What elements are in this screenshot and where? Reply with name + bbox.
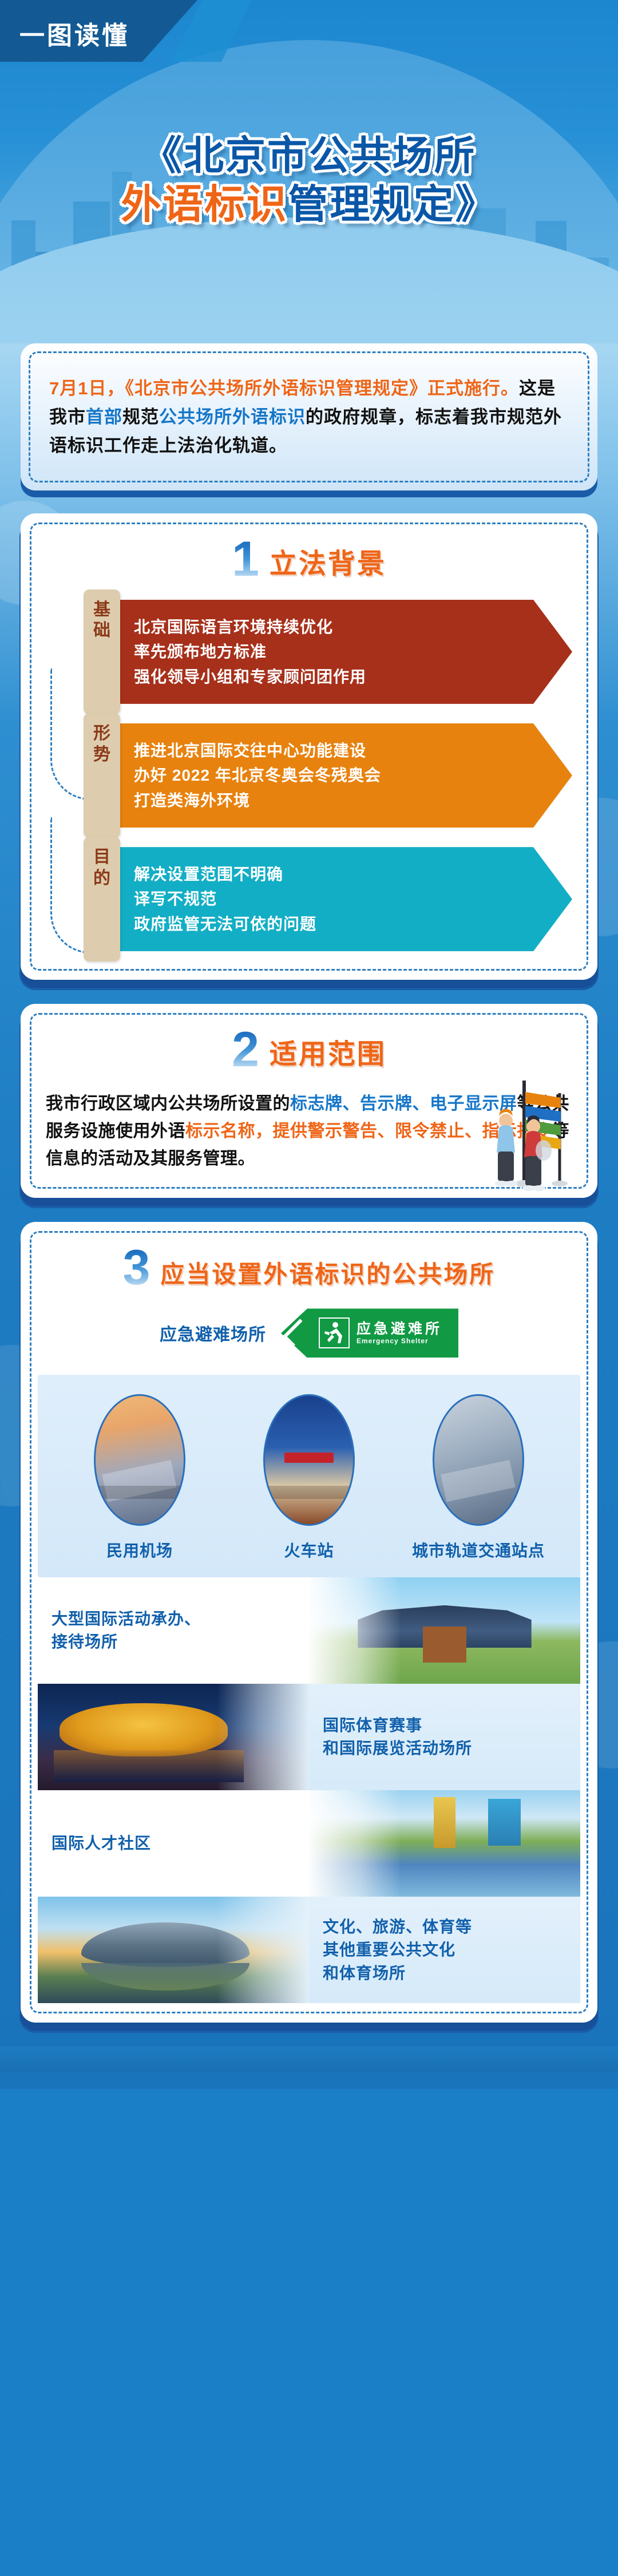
emergency-shelter-row: 应急避难场所 应急避难所 Emergency Shelter bbox=[38, 1308, 580, 1358]
shelter-sign-cn: 应急避难所 bbox=[356, 1321, 442, 1338]
background-item-purpose: 目 的 解决设置范围不明确 译写不规范 政府监管无法可依的问题 bbox=[50, 847, 572, 951]
birds-nest-stadium-photo bbox=[38, 1684, 309, 1790]
basis-line-2: 率先颁布地方标准 bbox=[134, 639, 504, 664]
intro-seg-3: 首部 bbox=[86, 407, 122, 427]
section-1-name: 立法背景 bbox=[270, 551, 386, 580]
metro-station-photo bbox=[433, 1394, 524, 1526]
background-item-basis: 基 础 北京国际语言环境持续优化 率先颁布地方标准 强化领导小组和专家顾问团作用 bbox=[50, 600, 572, 704]
tag-label: 一图读懂 bbox=[19, 15, 129, 52]
arrow-banner-situation: 推进北京国际交往中心功能建设 办好 2022 年北京冬奥会冬残奥会 打造类海外环… bbox=[117, 723, 572, 828]
one-picture-tag-banner: 一图读懂 bbox=[0, 0, 197, 62]
purpose-line-1: 解决设置范围不明确 bbox=[134, 862, 504, 887]
venue-row-culture: 文化、旅游、体育等 其他重要公共文化 和体育场所 bbox=[38, 1897, 580, 2003]
international-talent-community-photo bbox=[309, 1790, 580, 1897]
badge-purpose-char-1: 目 bbox=[86, 847, 118, 868]
thumb-metro-label: 城市轨道交通站点 bbox=[402, 1538, 554, 1561]
venue-culture-line-2: 其他重要公共文化 bbox=[323, 1938, 472, 1962]
thumb-airport: 民用机场 bbox=[64, 1394, 216, 1561]
badge-situation-char-2: 势 bbox=[86, 745, 118, 766]
badge-situation: 形 势 bbox=[84, 713, 120, 838]
badge-basis: 基 础 bbox=[84, 589, 120, 714]
shelter-sign-en: Emergency Shelter bbox=[356, 1337, 442, 1345]
section-3-card: 3 应当设置外语标识的公共场所 应急避难场所 bbox=[21, 1222, 597, 2023]
arrow-banner-basis: 北京国际语言环境持续优化 率先颁布地方标准 强化领导小组和专家顾问团作用 bbox=[117, 600, 572, 704]
venue-convention-line-1: 大型国际活动承办、 bbox=[51, 1608, 201, 1631]
thumb-railway-label: 火车站 bbox=[233, 1538, 385, 1561]
venue-row-convention: 大型国际活动承办、 接待场所 bbox=[38, 1577, 580, 1684]
intro-paragraph: 7月1日，《北京市公共场所外语标识管理规定》正式施行。这是我市首部规范公共场所外… bbox=[21, 343, 597, 490]
section-2-title: 2 适用范围 bbox=[46, 1029, 572, 1071]
intro-seg-4: 规范 bbox=[122, 407, 159, 427]
venue-talent-text: 国际人才社区 bbox=[38, 1790, 309, 1897]
scope-seg-1: 我市行政区域内公共场所设置的 bbox=[46, 1094, 290, 1113]
sign-installation-illustration bbox=[438, 1070, 570, 1193]
arrow-banner-purpose: 解决设置范围不明确 译写不规范 政府监管无法可依的问题 bbox=[117, 847, 572, 951]
section-2-card: 2 适用范围 我市行政区域内公共场所设置的标志牌、告示牌、电子显示屏等公共服务设… bbox=[21, 1004, 597, 1198]
venue-talent-line-1: 国际人才社区 bbox=[51, 1832, 151, 1855]
venue-row-talent: 国际人才社区 bbox=[38, 1790, 580, 1897]
situation-line-1: 推进北京国际交往中心功能建设 bbox=[134, 738, 504, 763]
title-line-2: 外语标识管理规定》 bbox=[0, 180, 618, 229]
footer-strip bbox=[0, 2047, 618, 2072]
thumb-airport-label: 民用机场 bbox=[64, 1538, 216, 1561]
transport-venue-thumbnails: 民用机场 火车站 城市轨道交通站点 bbox=[38, 1375, 580, 1577]
title-line-2-orange: 外语标识 bbox=[121, 182, 288, 227]
purpose-line-2: 译写不规范 bbox=[134, 887, 504, 911]
basis-line-3: 强化领导小组和专家顾问团作用 bbox=[134, 664, 504, 689]
situation-line-2: 办好 2022 年北京冬奥会冬残奥会 bbox=[134, 763, 504, 788]
venue-convention-text: 大型国际活动承办、 接待场所 bbox=[38, 1577, 309, 1684]
chevron-left-icon bbox=[282, 1319, 310, 1347]
section-2-number: 2 bbox=[232, 1029, 259, 1071]
intro-seg-5: 公共场所外语标识 bbox=[159, 407, 306, 427]
title-line-2-blue: 管理规定》 bbox=[288, 182, 497, 227]
international-convention-center-photo bbox=[309, 1577, 580, 1684]
venue-convention-line-2: 接待场所 bbox=[51, 1631, 201, 1654]
page-title: 《北京市公共场所 外语标识管理规定》 bbox=[0, 132, 618, 229]
badge-situation-char-1: 形 bbox=[86, 723, 118, 745]
badge-purpose: 目 的 bbox=[84, 837, 120, 961]
basis-line-1: 北京国际语言环境持续优化 bbox=[134, 615, 504, 639]
section-1-number: 1 bbox=[232, 539, 259, 580]
railway-station-photo bbox=[263, 1394, 355, 1526]
section-3-title: 3 应当设置外语标识的公共场所 bbox=[38, 1247, 580, 1289]
running-man-icon-box bbox=[319, 1317, 350, 1348]
title-line-1: 《北京市公共场所 bbox=[0, 132, 618, 180]
badge-basis-char-1: 基 bbox=[86, 600, 118, 621]
situation-line-3: 打造类海外环境 bbox=[134, 788, 504, 813]
section-1-card: 1 立法背景 基 础 北京国际语言环境持续优化 率先颁布地方标准 强化领导小组和… bbox=[21, 513, 597, 980]
section-3-name: 应当设置外语标识的公共场所 bbox=[160, 1263, 495, 1289]
badge-basis-char-2: 础 bbox=[86, 620, 118, 642]
emergency-shelter-label: 应急避难场所 bbox=[160, 1320, 266, 1346]
hero-header: 一图读懂 《北京市公共场所 外语标识管理规定》 bbox=[0, 0, 618, 343]
legislative-background-list: 基 础 北京国际语言环境持续优化 率先颁布地方标准 强化领导小组和专家顾问团作用… bbox=[46, 600, 572, 952]
running-man-icon bbox=[324, 1321, 344, 1344]
venue-row-sports: 国际体育赛事 和国际展览活动场所 bbox=[38, 1684, 580, 1790]
purpose-line-3: 政府监管无法可依的问题 bbox=[134, 912, 504, 936]
section-1-title: 1 立法背景 bbox=[46, 539, 572, 580]
thumb-metro: 城市轨道交通站点 bbox=[402, 1394, 554, 1561]
civil-airport-photo bbox=[94, 1394, 185, 1526]
badge-purpose-char-2: 的 bbox=[86, 868, 118, 889]
intro-card: 7月1日，《北京市公共场所外语标识管理规定》正式施行。这是我市首部规范公共场所外… bbox=[21, 343, 597, 490]
content-body: 7月1日，《北京市公共场所外语标识管理规定》正式施行。这是我市首部规范公共场所外… bbox=[0, 343, 618, 2089]
background-item-situation: 形 势 推进北京国际交往中心功能建设 办好 2022 年北京冬奥会冬残奥会 打造… bbox=[50, 723, 572, 828]
thumb-railway: 火车站 bbox=[233, 1394, 385, 1561]
venue-sports-line-2: 和国际展览活动场所 bbox=[323, 1737, 472, 1760]
emergency-shelter-sign: 应急避难所 Emergency Shelter bbox=[281, 1308, 458, 1358]
venue-culture-line-1: 文化、旅游、体育等 bbox=[323, 1916, 472, 1939]
venue-culture-text: 文化、旅游、体育等 其他重要公共文化 和体育场所 bbox=[309, 1897, 580, 2003]
section-3-number: 3 bbox=[123, 1247, 150, 1289]
venue-culture-line-3: 和体育场所 bbox=[323, 1962, 472, 1985]
venue-sports-text: 国际体育赛事 和国际展览活动场所 bbox=[309, 1684, 580, 1790]
venue-sports-line-1: 国际体育赛事 bbox=[323, 1714, 472, 1738]
section-2-name: 适用范围 bbox=[270, 1041, 386, 1071]
intro-seg-1: 7月1日，《北京市公共场所外语标识管理规定》正式施行。 bbox=[49, 378, 519, 398]
national-centre-performing-arts-photo bbox=[38, 1897, 309, 2003]
